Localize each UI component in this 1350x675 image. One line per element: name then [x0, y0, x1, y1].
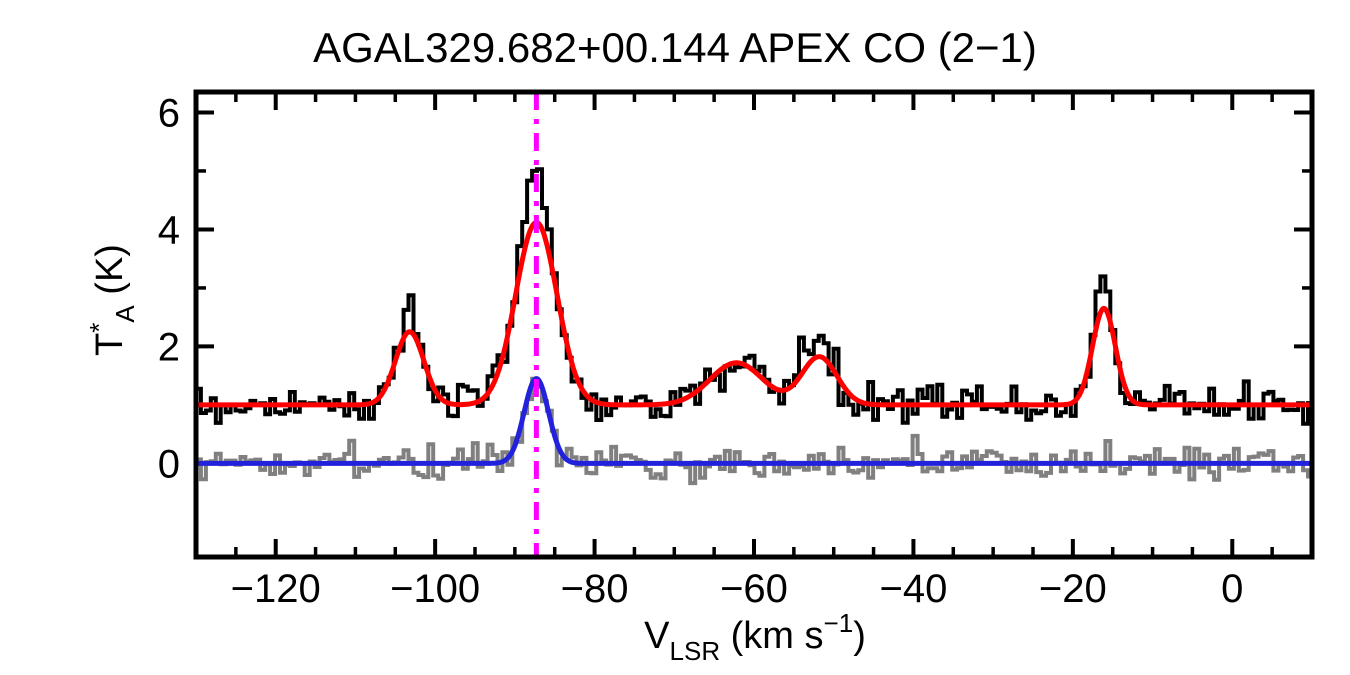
- spectrum-figure: AGAL329.682+00.144 APEX CO (2−1) T*A (K)…: [0, 0, 1350, 675]
- residual-spectrum-trace: [196, 379, 1313, 483]
- x-tick-label: −80: [561, 567, 629, 611]
- x-tick-label: −100: [390, 567, 480, 611]
- y-axis-label-subscript: A: [110, 305, 140, 323]
- x-tick-label: −20: [1039, 567, 1107, 611]
- svg-text:VLSR (km s−1): VLSR (km s−1): [644, 608, 866, 666]
- axis-ticks: [196, 92, 1312, 557]
- x-tick-label: −60: [720, 567, 788, 611]
- x-axis-label-main: V: [644, 615, 670, 657]
- data-traces: [196, 92, 1313, 557]
- x-axis-label-unit-open: (km s: [720, 615, 823, 657]
- x-axis-label-unit-superscript: −1: [824, 608, 854, 638]
- axis-tick-labels: −120−100−80−60−40−2000246: [158, 91, 1244, 611]
- y-tick-label: 6: [158, 91, 180, 135]
- residual-fit-trace: [196, 379, 1312, 464]
- x-axis-label-unit-close: ): [853, 615, 866, 657]
- plot-frame: [196, 92, 1312, 557]
- y-tick-label: 4: [158, 208, 180, 252]
- y-axis-label: T*A (K): [84, 244, 140, 356]
- y-axis-label-superscript: *: [84, 323, 114, 333]
- gaussian-fit-trace: [196, 222, 1312, 405]
- y-axis-label-main: T: [89, 333, 131, 356]
- y-tick-label: 0: [158, 442, 180, 486]
- x-tick-label: −120: [231, 567, 321, 611]
- spectrum-plot: AGAL329.682+00.144 APEX CO (2−1) T*A (K)…: [0, 0, 1350, 675]
- svg-text:T*A (K): T*A (K): [84, 244, 140, 356]
- observed-spectrum-trace: [196, 169, 1313, 424]
- y-tick-label: 2: [158, 325, 180, 369]
- x-tick-label: 0: [1221, 567, 1243, 611]
- x-tick-label: −40: [879, 567, 947, 611]
- y-axis-label-unit: (K): [89, 244, 131, 305]
- x-axis-label-subscript: LSR: [670, 636, 721, 666]
- chart-title: AGAL329.682+00.144 APEX CO (2−1): [313, 24, 1037, 71]
- x-axis-label: VLSR (km s−1): [644, 608, 866, 666]
